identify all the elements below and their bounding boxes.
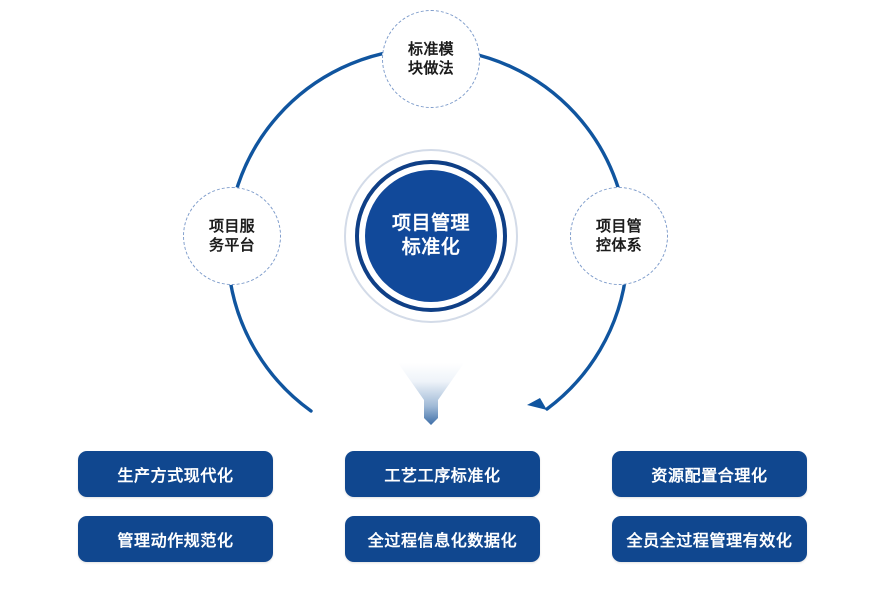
outcome-box-grid: 生产方式现代化 工艺工序标准化 资源配置合理化 管理动作规范化 全过程信息化数据… (78, 451, 808, 562)
node-right-label: 项目管 控体系 (596, 217, 642, 256)
node-left-label: 项目服 务平台 (209, 217, 255, 256)
center-label: 项目管理 标准化 (392, 212, 470, 261)
center-core-circle: 项目管理 标准化 (365, 170, 497, 302)
center-circle-group: 项目管理 标准化 (344, 149, 518, 323)
outcome-box-5[interactable]: 全过程信息化数据化 (345, 516, 540, 562)
node-project-service-platform[interactable]: 项目服 务平台 (183, 187, 281, 285)
outcome-box-2[interactable]: 工艺工序标准化 (345, 451, 540, 497)
arc-arrowhead (527, 398, 547, 410)
outcome-box-1[interactable]: 生产方式现代化 (78, 451, 273, 497)
node-standard-module-practice[interactable]: 标准模 块做法 (382, 10, 480, 108)
diagram-canvas: 项目管理 标准化 标准模 块做法 项目服 务平台 项目管 控体系 生产方式现代化… (0, 0, 884, 590)
outcome-box-6[interactable]: 全员全过程管理有效化 (612, 516, 807, 562)
node-project-control-system[interactable]: 项目管 控体系 (570, 187, 668, 285)
node-top-label: 标准模 块做法 (408, 40, 454, 79)
outcome-box-4[interactable]: 管理动作规范化 (78, 516, 273, 562)
down-arrow (398, 363, 464, 425)
outcome-box-3[interactable]: 资源配置合理化 (612, 451, 807, 497)
